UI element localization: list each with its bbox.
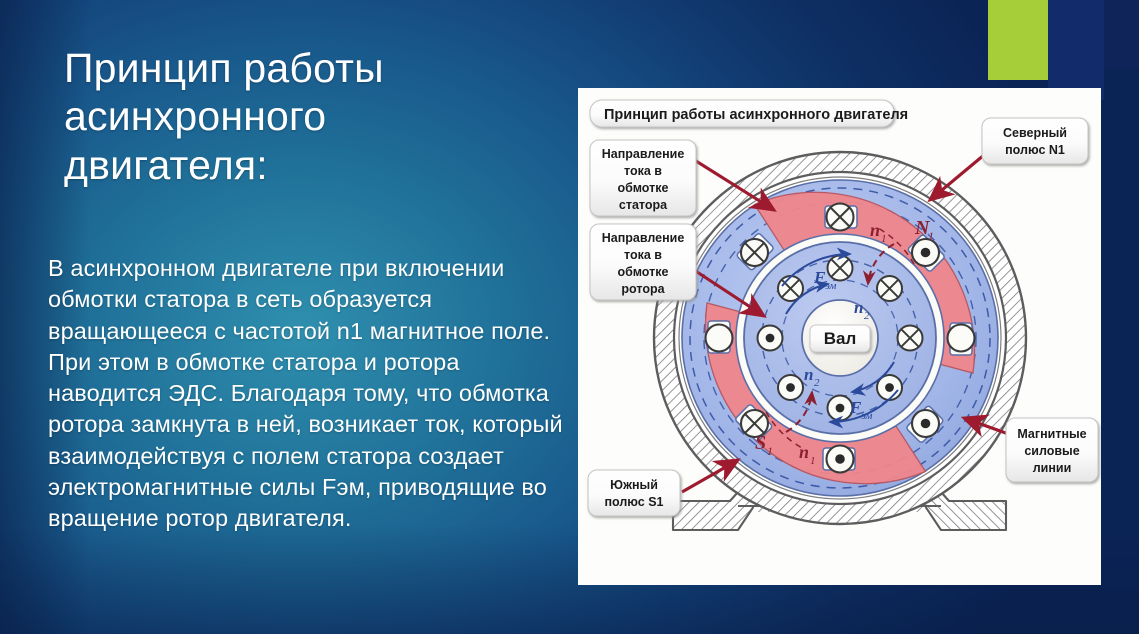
slide-title: Принцип работы асинхронного двигателя: bbox=[64, 44, 534, 189]
conductor-dot bbox=[778, 375, 803, 400]
callout-line: тока в bbox=[624, 164, 662, 178]
decoration-navy-bar-2 bbox=[1104, 0, 1139, 68]
stator-conductor-cross bbox=[827, 204, 854, 231]
force-sub-lower: эм bbox=[861, 410, 872, 422]
callout-magnetic-lines[interactable]: Магнитные силовые линии bbox=[1006, 418, 1098, 482]
callout-line: силовые bbox=[1024, 444, 1079, 458]
callout-line: Северный bbox=[1003, 126, 1067, 140]
shaft-label: Вал bbox=[824, 329, 857, 348]
callout-line: Направление bbox=[602, 147, 685, 161]
rotor-speed-label-lower: n bbox=[804, 365, 813, 384]
conductor-cross bbox=[898, 326, 923, 351]
rotor-speed-sub-upper: 2 bbox=[864, 310, 870, 322]
conductor-dot bbox=[828, 396, 853, 421]
callout-line: Южный bbox=[610, 478, 658, 492]
callout-line: обмотке bbox=[618, 265, 669, 279]
stator-conductor-blank bbox=[948, 325, 975, 352]
field-speed-label-north: n bbox=[870, 220, 880, 240]
decoration-green-bar bbox=[988, 0, 1048, 80]
callout-stator-current[interactable]: Направление тока в обмотке статора bbox=[590, 140, 696, 216]
callout-south-pole[interactable]: Южный полюс S1 bbox=[588, 470, 680, 516]
rotor-speed-sub-lower: 2 bbox=[814, 377, 820, 389]
callout-line: Магнитные bbox=[1017, 427, 1086, 441]
diagram-panel: Вал N 1 n 1 S 1 n 1 n 2 n 2 bbox=[578, 88, 1101, 585]
callout-line: полюс S1 bbox=[604, 495, 663, 509]
slide-root: Принцип работы асинхронного двигателя: В… bbox=[0, 0, 1139, 634]
callout-line: ротора bbox=[621, 282, 665, 296]
leader-north-pole bbox=[930, 150, 990, 200]
diagram-caption-text: Принцип работы асинхронного двигателя bbox=[604, 107, 908, 123]
stator-conductor-dot bbox=[827, 446, 854, 473]
conductor-cross bbox=[828, 256, 853, 281]
callout-line: линии bbox=[1033, 461, 1072, 475]
north-pole-symbol-sub: 1 bbox=[928, 229, 934, 243]
callout-line: полюс N1 bbox=[1005, 143, 1065, 157]
callout-rotor-current[interactable]: Направление тока в обмотке ротора bbox=[590, 224, 696, 300]
force-sub-upper: эм bbox=[825, 280, 836, 292]
stator-conductor-blank bbox=[706, 325, 733, 352]
field-speed-sub-south: 1 bbox=[810, 455, 816, 467]
field-speed-label-south: n bbox=[799, 442, 809, 462]
field-speed-sub-north: 1 bbox=[881, 233, 887, 245]
stator-conductor-dot bbox=[912, 239, 939, 266]
conductor-dot bbox=[758, 326, 783, 351]
stator-conductor-cross bbox=[741, 239, 768, 266]
motor-diagram-svg: Вал N 1 n 1 S 1 n 1 n 2 n 2 bbox=[578, 88, 1101, 585]
diagram-caption: Принцип работы асинхронного двигателя bbox=[590, 100, 908, 127]
south-pole-symbol: S bbox=[755, 432, 766, 454]
south-pole-symbol-sub: 1 bbox=[767, 444, 773, 458]
callout-line: статора bbox=[619, 198, 668, 212]
conductor-cross bbox=[877, 276, 902, 301]
callout-line: обмотке bbox=[618, 181, 669, 195]
callout-line: тока в bbox=[624, 248, 662, 262]
callout-north-pole[interactable]: Северный полюс N1 bbox=[982, 118, 1088, 164]
decoration-navy-bar bbox=[1048, 0, 1104, 100]
stator-conductor-dot bbox=[912, 410, 939, 437]
callout-line: Направление bbox=[602, 231, 685, 245]
rotor-speed-label-upper: n bbox=[854, 298, 863, 317]
slide-body-text: В асинхронном двигателе при включении об… bbox=[48, 253, 568, 534]
